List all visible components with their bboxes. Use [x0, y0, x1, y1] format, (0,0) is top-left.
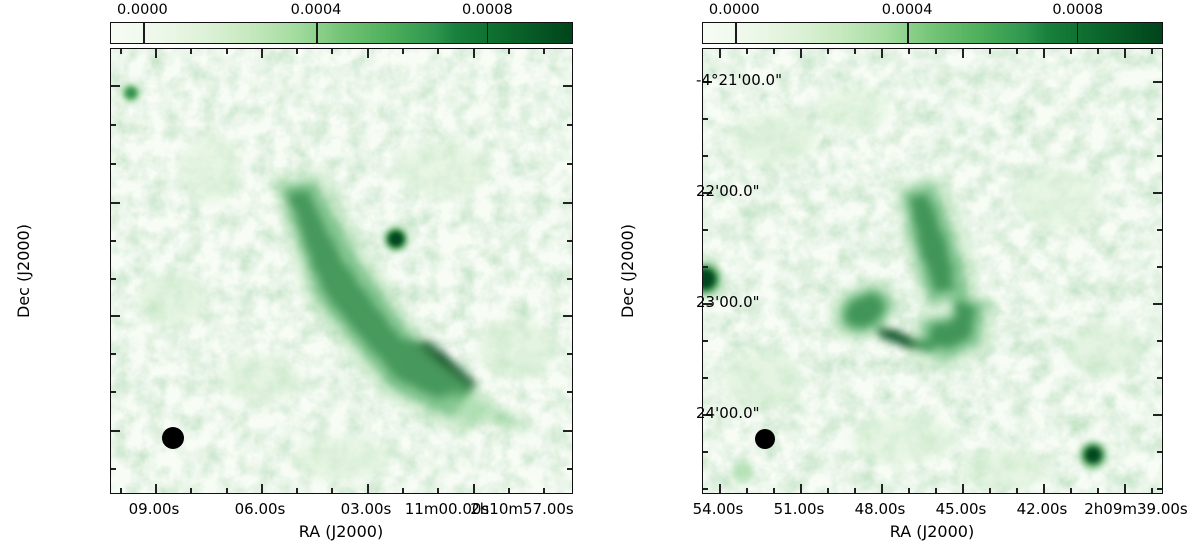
xtick-label-2: 48.00s [855, 500, 906, 518]
colorbar-tick-2: 0.0008 [1052, 2, 1103, 18]
xtick-label-1: 06.00s [235, 500, 286, 518]
colorbar-tick-1: 0.0004 [882, 2, 933, 18]
panel-left: 0.0000 0.0004 0.0008 The Eyebrow radio g… [0, 0, 600, 544]
yaxis-title-right: Dec (J2000) [618, 224, 637, 318]
colorbar-gradient-left [110, 22, 573, 44]
image-axes-left[interactable] [110, 48, 573, 494]
colorbar-right: 0.0000 0.0004 0.0008 [702, 2, 1163, 44]
xaxis-title-left: RA (J2000) [299, 522, 383, 541]
radio-image-left [111, 49, 573, 494]
xtick-label-4: 2h10m57.00s [470, 500, 574, 518]
xtick-label-0: 54.00s [693, 500, 744, 518]
xtick-label-2: 03.00s [341, 500, 392, 518]
colorbar-gradient-right [702, 22, 1163, 44]
colorbar-tick-2: 0.0008 [462, 2, 513, 18]
radio-image-right [703, 49, 1163, 494]
xtick-label-1: 51.00s [774, 500, 825, 518]
colorbar-tick-0: 0.0000 [117, 2, 168, 18]
beam-marker-right [755, 429, 775, 449]
xtick-label-5: 2h09m39.00s [1084, 500, 1188, 518]
colorbar-tick-0: 0.0000 [709, 2, 760, 18]
xtick-label-3: 45.00s [936, 500, 987, 518]
panel-right: 0.0000 0.0004 0.0008 The Unhinged [600, 0, 1200, 544]
yaxis-title-left: Dec (J2000) [14, 224, 33, 318]
radio-map-figure: 0.0000 0.0004 0.0008 The Eyebrow radio g… [0, 0, 1200, 544]
xaxis-title-right: RA (J2000) [890, 522, 974, 541]
beam-marker-left [162, 427, 184, 449]
xtick-label-4: 42.00s [1017, 500, 1068, 518]
colorbar-ticklabels-right: 0.0000 0.0004 0.0008 [702, 2, 1163, 22]
xtick-label-0: 09.00s [129, 500, 180, 518]
colorbar-ticklabels-left: 0.0000 0.0004 0.0008 [110, 2, 573, 22]
colorbar-tick-1: 0.0004 [291, 2, 342, 18]
colorbar-left: 0.0000 0.0004 0.0008 [110, 2, 573, 44]
image-axes-right[interactable] [702, 48, 1163, 494]
